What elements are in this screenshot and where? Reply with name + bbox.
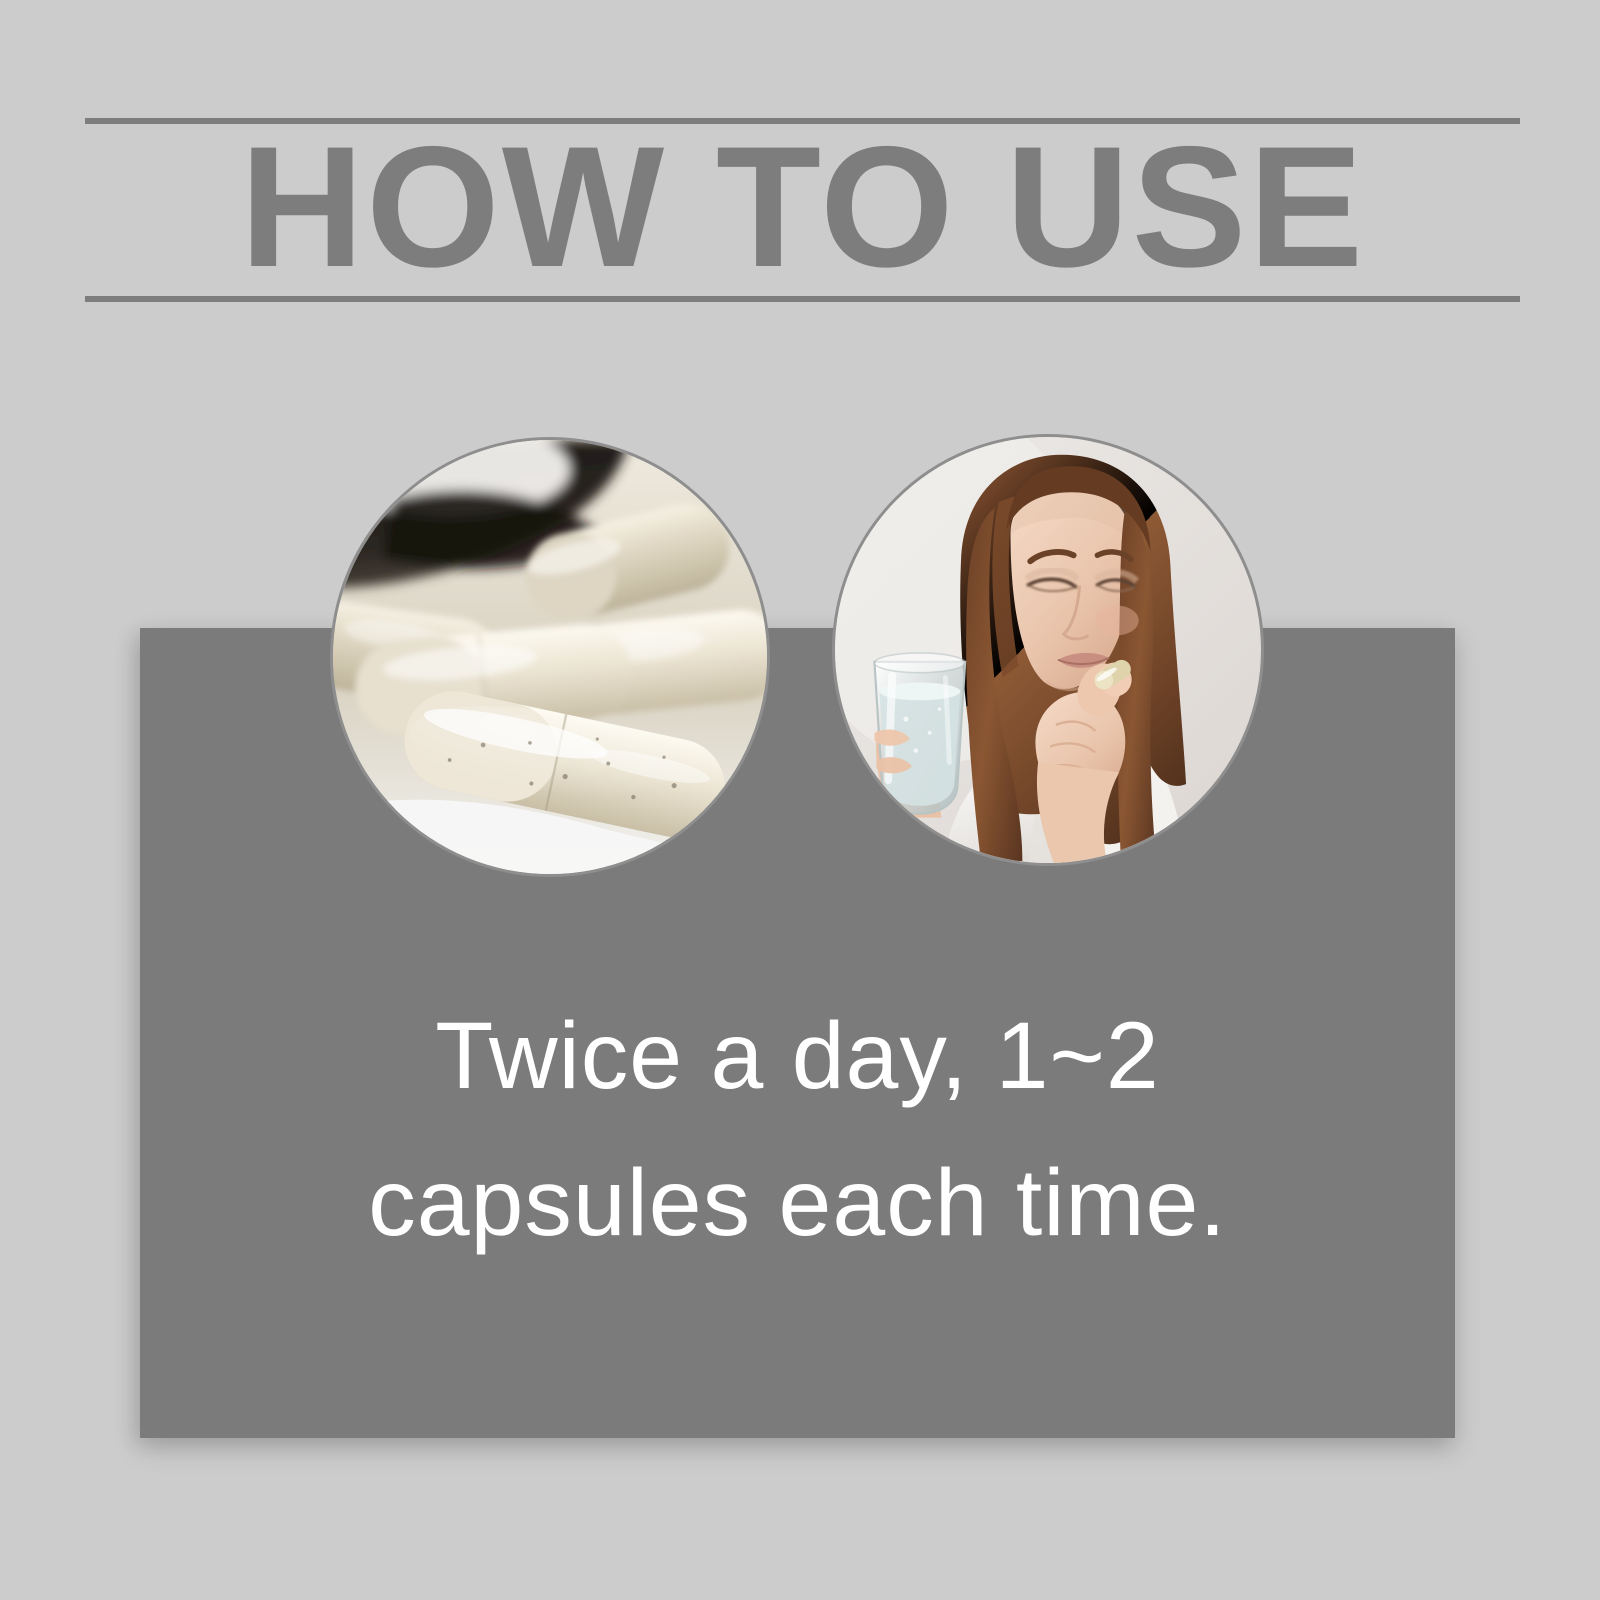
title-rule-bottom <box>85 296 1520 302</box>
content-panel: Twice a day, 1~2 capsules each time. <box>140 628 1455 1438</box>
instruction-text: Twice a day, 1~2 capsules each time. <box>140 983 1455 1277</box>
capsules-photo <box>330 437 770 877</box>
instruction-line-2: capsules each time. <box>140 1130 1455 1277</box>
woman-taking-capsule-photo <box>832 434 1264 866</box>
page-title: HOW TO USE <box>85 124 1520 296</box>
instruction-line-1: Twice a day, 1~2 <box>140 983 1455 1130</box>
capsules-photo-illustration <box>333 440 767 874</box>
woman-photo-illustration <box>835 437 1261 863</box>
header: HOW TO USE <box>85 118 1520 303</box>
